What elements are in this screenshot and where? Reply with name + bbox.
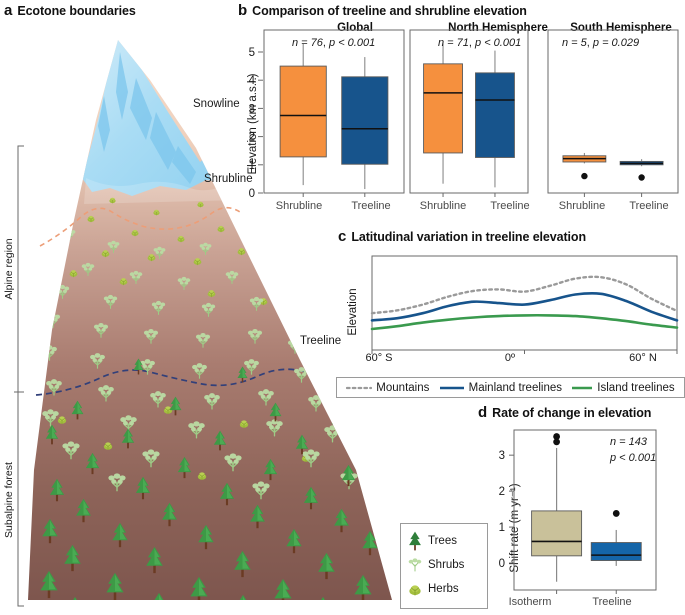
panel-b-ytick-3: 3 bbox=[249, 103, 255, 115]
stat-south: n = 5, p = 0.029 bbox=[562, 37, 639, 49]
boxplot-d-isotherm bbox=[532, 433, 582, 582]
box bbox=[280, 66, 326, 157]
outlier-point bbox=[581, 173, 587, 179]
legend-label-shrubs: Shrubs bbox=[428, 559, 464, 571]
panel-c-legend: Mountains Mainland treelines Island tree… bbox=[336, 377, 685, 398]
stat-d-p: p < 0.001 bbox=[610, 452, 656, 464]
legend-label-island: Island treelines bbox=[597, 382, 674, 394]
stat-north-p: p < 0.001 bbox=[475, 37, 521, 49]
panel-c-xtick-60n: 60° N bbox=[608, 352, 678, 364]
panel-b-ytick-2: 2 bbox=[249, 132, 255, 144]
legend-item-mountains: Mountains bbox=[346, 382, 429, 394]
panel-c-plot bbox=[336, 228, 685, 400]
legend-label-herbs: Herbs bbox=[428, 583, 459, 595]
outlier-point bbox=[638, 174, 644, 180]
outlier-point bbox=[613, 510, 620, 517]
subalpine-forest-bracket bbox=[18, 392, 24, 606]
xlabel-global-treeline: Treeline bbox=[336, 200, 406, 212]
panel-b-ytick-0: 0 bbox=[249, 188, 255, 200]
panel-b-elevation-comparison: b Comparison of treeline and shrubline e… bbox=[236, 0, 685, 225]
panel-d-plot: 0123 bbox=[470, 404, 685, 615]
alpine-region-label: Alpine region bbox=[3, 233, 15, 305]
boxplot-north-hemisphere-shrubline bbox=[424, 44, 463, 184]
boxplot-south-hemisphere-treeline bbox=[620, 159, 663, 181]
boxplot-global-treeline bbox=[342, 57, 388, 189]
subalpine-forest-label: Subalpine forest bbox=[3, 453, 15, 547]
panel-c-latitudinal-variation: c Latitudinal variation in treeline elev… bbox=[336, 228, 685, 400]
series-mountains bbox=[372, 277, 677, 313]
panel-d-ytick-0: 0 bbox=[499, 558, 505, 570]
solid-line-green-icon bbox=[571, 384, 593, 392]
boxplot-global-shrubline bbox=[280, 44, 326, 186]
stat-d-n-text: n = 143 bbox=[610, 436, 647, 448]
panel-b-plot: 012345 bbox=[236, 0, 685, 225]
xlabel-global-shrubline: Shrubline bbox=[264, 200, 334, 212]
xlabel-isotherm: Isotherm bbox=[490, 596, 570, 608]
stat-global: n = 76, p < 0.001 bbox=[292, 37, 375, 49]
box bbox=[532, 511, 582, 556]
stat-south-n: n = 5 bbox=[562, 37, 587, 49]
stat-north: n = 71, p < 0.001 bbox=[438, 37, 521, 49]
panel-d-ytick-2: 2 bbox=[499, 486, 505, 498]
panel-c-xtick-60s: 60° S bbox=[344, 352, 414, 364]
panel-b-ytick-1: 1 bbox=[249, 160, 255, 172]
boxplot-d-treeline bbox=[591, 510, 641, 566]
stat-global-n: n = 76 bbox=[292, 37, 323, 49]
xlabel-treeline: Treeline bbox=[572, 596, 652, 608]
panel-d-rate-of-change: d Rate of change in elevation Shift rate… bbox=[470, 404, 685, 615]
xlabel-north-shrubline: Shrubline bbox=[408, 200, 478, 212]
xlabel-north-treeline: Treeline bbox=[475, 200, 545, 212]
boxplot-south-hemisphere-shrubline bbox=[563, 153, 606, 179]
panel-c-xtick-0: 0º bbox=[475, 352, 545, 364]
panel-b-ytick-5: 5 bbox=[249, 47, 255, 59]
stat-global-p: p < 0.001 bbox=[329, 37, 375, 49]
shrub-icon bbox=[407, 557, 423, 573]
stat-south-p: p = 0.029 bbox=[593, 37, 639, 49]
stat-north-n: n = 71 bbox=[438, 37, 469, 49]
tree-icon bbox=[407, 531, 423, 551]
panel-b-frame-2 bbox=[548, 30, 678, 193]
herb-icon bbox=[407, 582, 423, 597]
legend-item-mainland-treelines: Mainland treelines bbox=[439, 382, 562, 394]
box bbox=[342, 77, 388, 164]
box bbox=[591, 543, 641, 561]
panel-d-ytick-3: 3 bbox=[499, 450, 505, 462]
legend-label-mountains: Mountains bbox=[376, 382, 429, 394]
dotted-line-icon bbox=[346, 384, 372, 392]
stat-d-n: n = 143 bbox=[610, 436, 647, 448]
stat-d-p-text: p < 0.001 bbox=[610, 452, 656, 464]
legend-label-mainland: Mainland treelines bbox=[469, 382, 562, 394]
series-island-treelines bbox=[372, 315, 677, 329]
box bbox=[475, 73, 514, 158]
boxplot-north-hemisphere-treeline bbox=[475, 51, 514, 188]
box bbox=[424, 64, 463, 153]
treeline-label: Treeline bbox=[300, 335, 341, 347]
outlier-point bbox=[553, 433, 560, 440]
panel-d-ytick-1: 1 bbox=[499, 522, 505, 534]
panel-b-ytick-4: 4 bbox=[249, 75, 256, 87]
legend-item-island-treelines: Island treelines bbox=[571, 382, 674, 394]
xlabel-south-treeline: Treeline bbox=[614, 200, 684, 212]
snowline-label: Snowline bbox=[193, 98, 240, 110]
xlabel-south-shrubline: Shrubline bbox=[547, 200, 617, 212]
alpine-region-bracket bbox=[14, 146, 24, 392]
legend-label-trees: Trees bbox=[428, 535, 457, 547]
solid-line-blue-icon bbox=[439, 384, 465, 392]
